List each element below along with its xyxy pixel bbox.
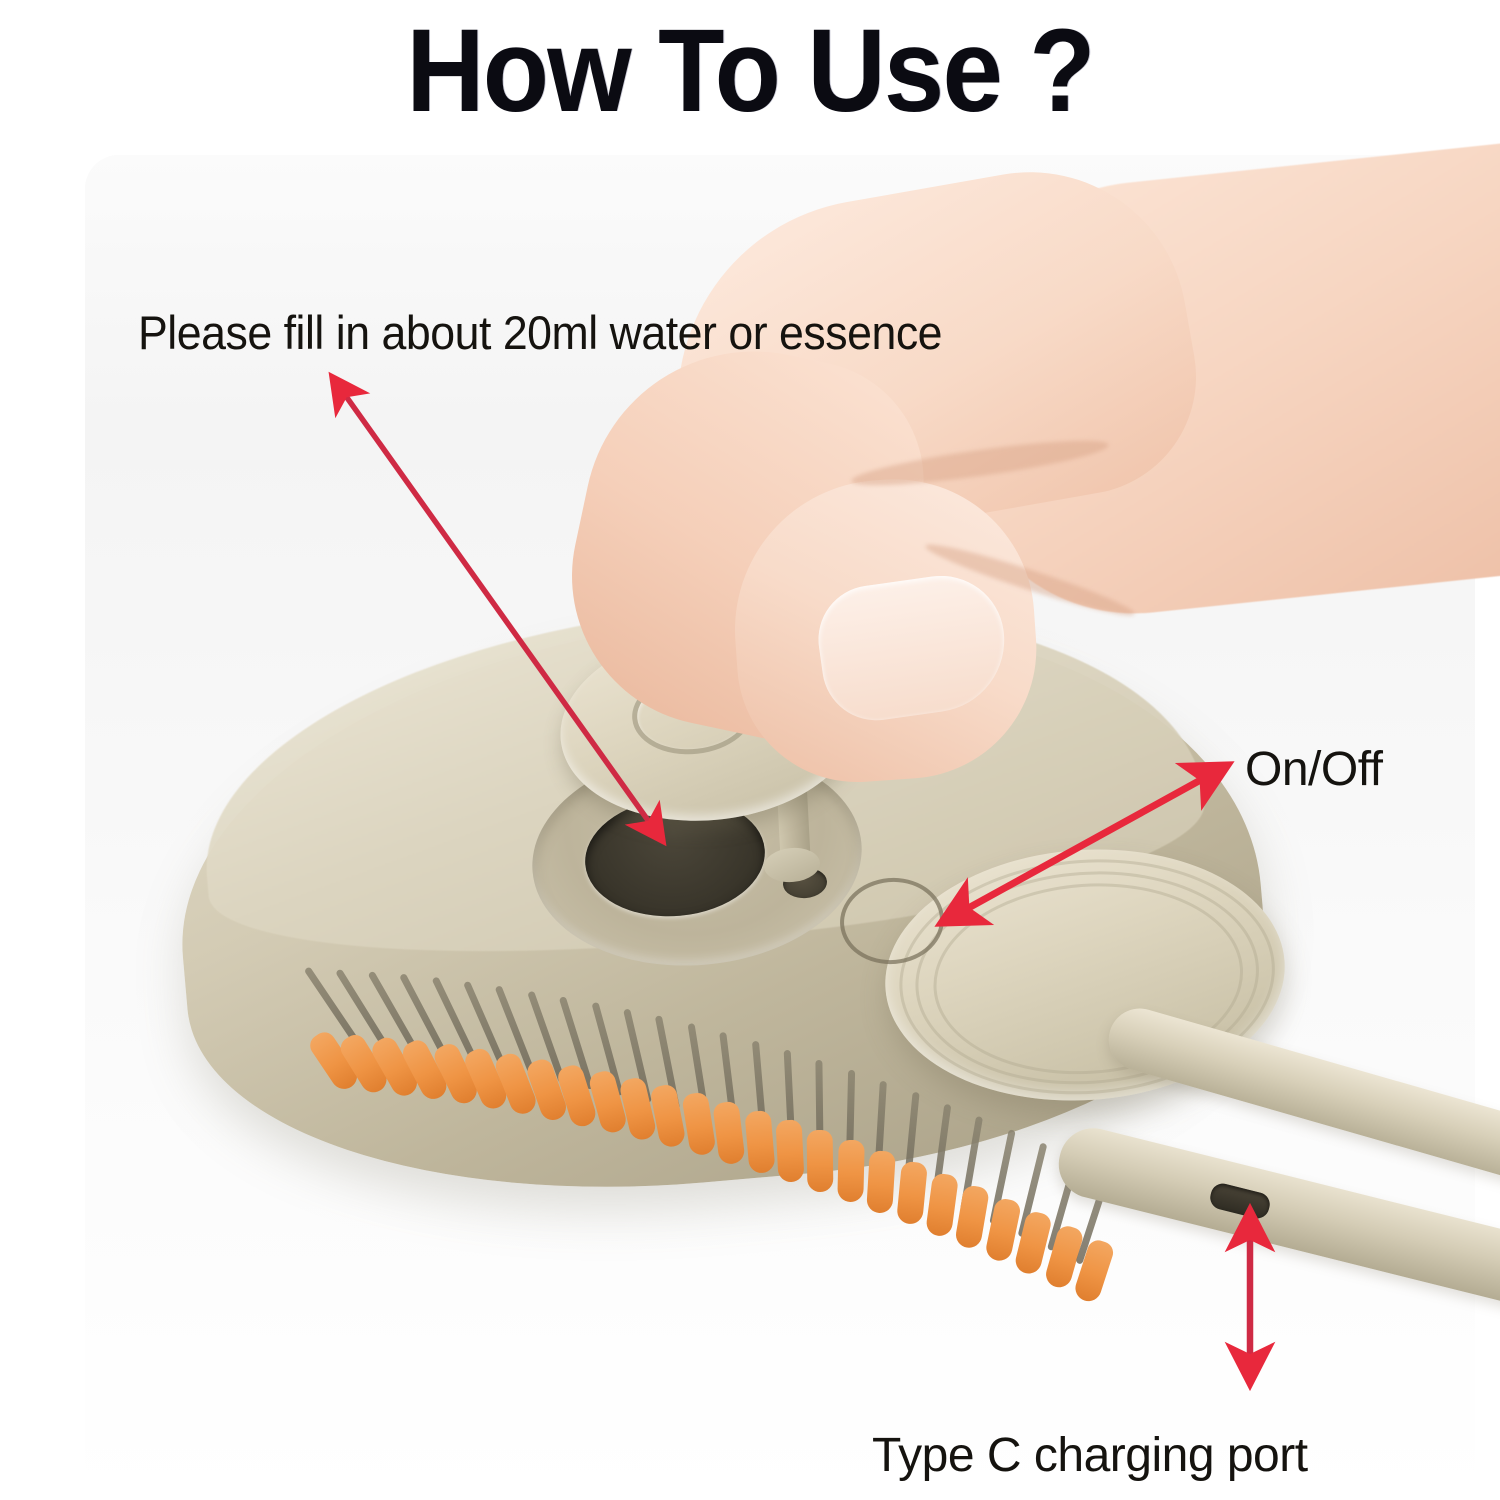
bristle: [807, 1130, 834, 1192]
bristle: [925, 1173, 959, 1238]
bristle: [837, 1140, 864, 1203]
charging-port-label: Type C charging port: [872, 1428, 1308, 1483]
page-title: How To Use ?: [60, 10, 1440, 134]
infographic-canvas: How To Use ?: [0, 0, 1500, 1500]
fill-instruction-label: Please fill in about 20ml water or essen…: [138, 305, 942, 360]
on-off-label: On/Off: [1245, 742, 1383, 797]
bristle: [954, 1184, 990, 1249]
bristle: [744, 1110, 775, 1174]
bristle: [896, 1161, 928, 1225]
bristle: [776, 1119, 805, 1182]
bristle: [866, 1150, 896, 1213]
